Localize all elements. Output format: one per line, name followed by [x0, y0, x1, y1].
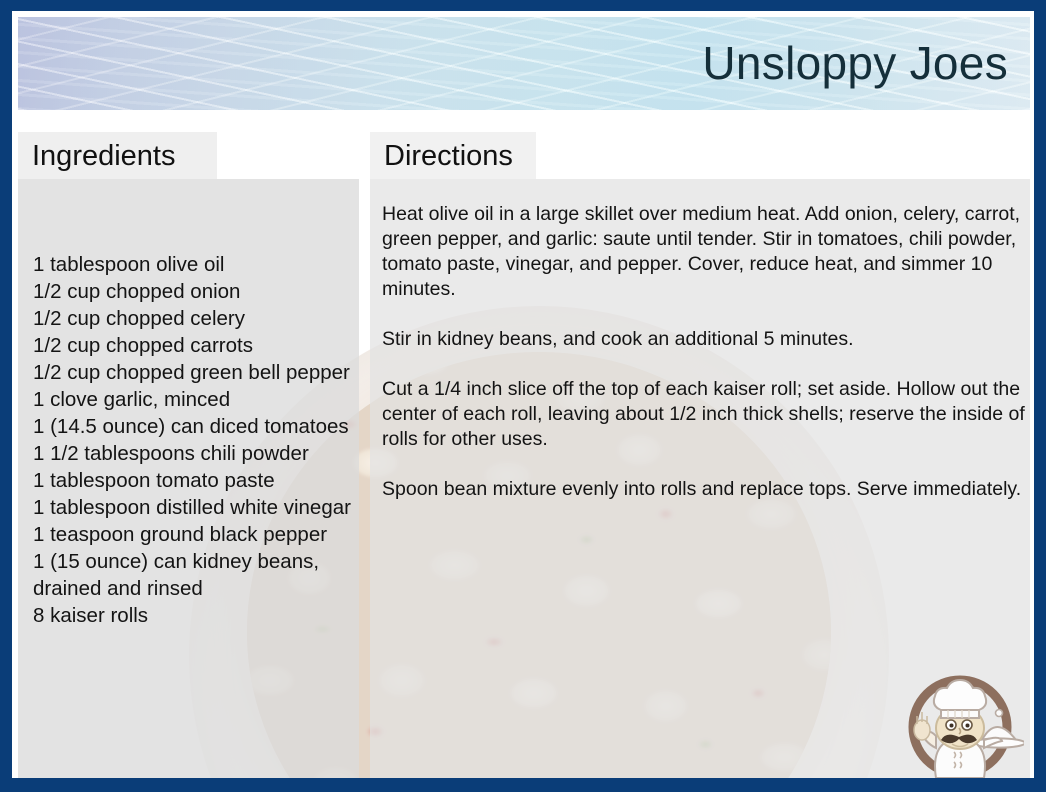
- ingredient-item: 1 clove garlic, minced: [33, 386, 363, 413]
- ingredient-item: 1/2 cup chopped carrots: [33, 332, 363, 359]
- chef-holding-cloche-logo: [896, 656, 1024, 778]
- recipe-card: Unsloppy Joes Ingredients 1 tablespoon o…: [0, 0, 1046, 792]
- ingredients-panel: 1 tablespoon olive oil1/2 cup chopped on…: [18, 179, 359, 778]
- ingredient-item: 1 tablespoon olive oil: [33, 251, 363, 278]
- direction-paragraph: Stir in kidney beans, and cook an additi…: [382, 327, 1026, 352]
- direction-paragraph: Spoon bean mixture evenly into rolls and…: [382, 477, 1026, 502]
- direction-paragraph: Cut a 1/4 inch slice off the top of each…: [382, 377, 1026, 452]
- page-title: Unsloppy Joes: [702, 35, 1008, 89]
- ingredients-list: 1 tablespoon olive oil1/2 cup chopped on…: [33, 251, 363, 629]
- ingredient-item: 1/2 cup chopped onion: [33, 278, 363, 305]
- ingredient-item: 1/2 cup chopped celery: [33, 305, 363, 332]
- ingredient-item: 1 (14.5 ounce) can diced tomatoes: [33, 413, 363, 440]
- directions-heading: Directions: [384, 140, 513, 173]
- ingredient-item: 8 kaiser rolls: [33, 602, 363, 629]
- ingredient-item: 1 teaspoon ground black pepper: [33, 521, 363, 548]
- ingredients-header-tab: Ingredients: [18, 132, 217, 179]
- ingredient-item: 1 tablespoon distilled white vinegar: [33, 494, 363, 521]
- ingredient-item: 1 (15 ounce) can kidney beans, drained a…: [33, 548, 363, 602]
- ingredients-heading: Ingredients: [32, 140, 176, 173]
- title-banner: Unsloppy Joes: [18, 17, 1030, 110]
- card-canvas: Unsloppy Joes Ingredients 1 tablespoon o…: [12, 11, 1034, 778]
- ingredient-item: 1/2 cup chopped green bell pepper: [33, 359, 363, 386]
- directions-text: Heat olive oil in a large skillet over m…: [382, 202, 1026, 502]
- directions-header-tab: Directions: [370, 132, 536, 179]
- ingredient-item: 1 1/2 tablespoons chili powder: [33, 440, 363, 467]
- ingredient-item: 1 tablespoon tomato paste: [33, 467, 363, 494]
- direction-paragraph: Heat olive oil in a large skillet over m…: [382, 202, 1026, 302]
